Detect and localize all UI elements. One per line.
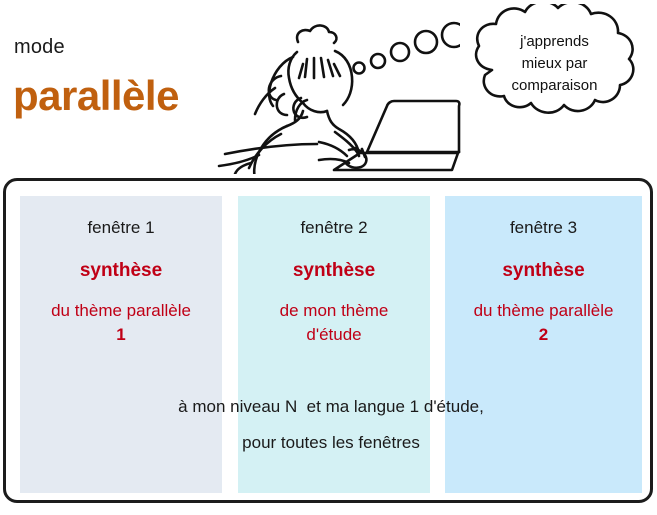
bubble-line-3: comparaison	[452, 75, 657, 97]
window-desc-3-line2: 2	[445, 323, 642, 347]
synthese-label-1: synthèse	[20, 260, 222, 282]
window-column-2-content: fenêtre 2 synthèse de mon thème d'étude	[238, 196, 430, 347]
window-desc-1-line2: 1	[20, 323, 222, 347]
thought-trail-dots-icon	[350, 20, 460, 80]
window-desc-2: de mon thème d'étude	[238, 299, 430, 347]
window-column-1-content: fenêtre 1 synthèse du thème parallèle 1	[20, 196, 222, 347]
window-label-1: fenêtre 1	[20, 218, 222, 238]
window-column-3[interactable]: fenêtre 3 synthèse du thème parallèle 2	[445, 196, 642, 493]
window-desc-3-line1: du thème parallèle	[474, 301, 614, 320]
window-desc-3: du thème parallèle 2	[445, 299, 642, 347]
window-label-2: fenêtre 2	[238, 218, 430, 238]
window-column-3-content: fenêtre 3 synthèse du thème parallèle 2	[445, 196, 642, 347]
window-column-2[interactable]: fenêtre 2 synthèse de mon thème d'étude	[238, 196, 430, 493]
mode-title: parallèle	[13, 72, 179, 120]
synthese-label-3: synthèse	[445, 260, 642, 282]
window-desc-2-line1: de mon thème	[280, 301, 389, 320]
bubble-line-1: j'apprends	[452, 31, 657, 53]
mode-label: mode	[14, 36, 65, 59]
window-desc-2-line2: d'étude	[238, 323, 430, 347]
window-label-3: fenêtre 3	[445, 218, 642, 238]
synthese-label-2: synthèse	[238, 260, 430, 282]
bubble-line-2: mieux par	[452, 53, 657, 75]
window-desc-1: du thème parallèle 1	[20, 299, 222, 347]
thought-bubble-text: j'apprends mieux par comparaison	[452, 31, 657, 97]
window-columns: fenêtre 1 synthèse du thème parallèle 1 …	[6, 181, 656, 506]
parallel-mode-panel: fenêtre 1 synthèse du thème parallèle 1 …	[3, 178, 653, 503]
window-desc-1-line1: du thème parallèle	[51, 301, 191, 320]
window-column-1[interactable]: fenêtre 1 synthèse du thème parallèle 1	[20, 196, 222, 493]
